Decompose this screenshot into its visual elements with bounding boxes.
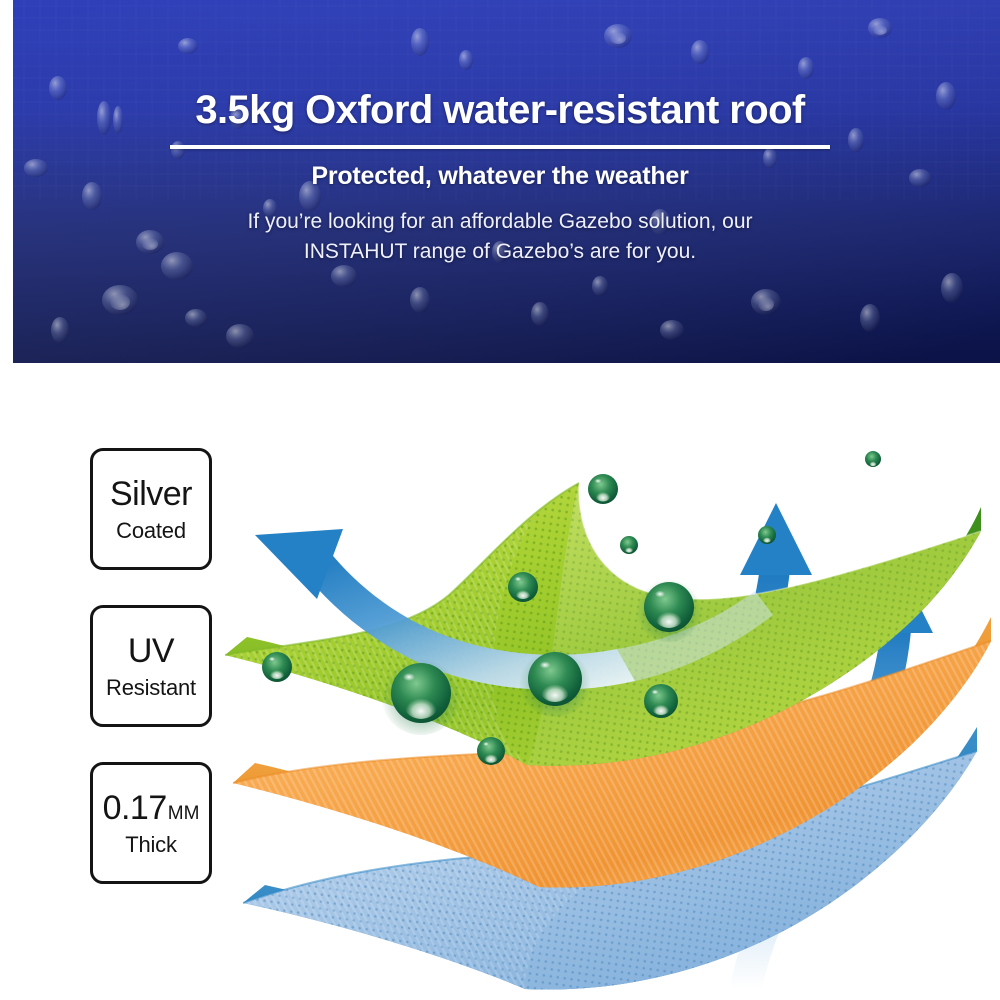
title-divider [170, 145, 830, 149]
droplet [644, 684, 678, 718]
feature-badge-silver-coated: Silver Coated [90, 448, 212, 570]
droplet [508, 572, 538, 602]
droplet [758, 526, 776, 544]
arrow-center-head [740, 503, 812, 575]
badge-unit-text: MM [168, 804, 200, 823]
page-subtitle: Protected, whatever the weather [311, 162, 688, 191]
droplet [477, 737, 505, 765]
badge-label: Thick [125, 834, 177, 856]
feature-badge-thickness: 0.17 MM Thick [90, 762, 212, 884]
page-title: 3.5kg Oxford water-resistant roof [195, 88, 804, 133]
description-line-2: INSTAHUT range of Gazebo’s are for you. [180, 237, 820, 267]
description-line-1: If you’re looking for an affordable Gaze… [180, 207, 820, 237]
badge-value-text: Silver [110, 477, 192, 511]
badge-label: Coated [116, 520, 186, 542]
page-description: If you’re looking for an affordable Gaze… [180, 207, 820, 267]
feature-badge-list: Silver Coated UV Resistant 0.17 MM Thick [90, 448, 212, 884]
hero-banner: 3.5kg Oxford water-resistant roof Protec… [0, 0, 1000, 363]
droplet [519, 645, 591, 717]
droplet [636, 576, 702, 642]
droplet [381, 655, 461, 735]
badge-value: UV [128, 634, 174, 668]
badge-label: Resistant [106, 677, 196, 699]
badge-value-text: 0.17 [103, 791, 167, 825]
droplet [588, 474, 618, 504]
feature-badge-uv-resistant: UV Resistant [90, 605, 212, 727]
badge-value: 0.17 MM [103, 791, 200, 825]
fabric-layers-illustration [225, 363, 1000, 1000]
droplet [620, 536, 638, 554]
droplet [262, 652, 292, 682]
feature-section: Silver Coated UV Resistant 0.17 MM Thick [0, 363, 1000, 1000]
droplet [865, 451, 881, 467]
badge-value-text: UV [128, 634, 174, 668]
badge-value: Silver [110, 477, 192, 511]
